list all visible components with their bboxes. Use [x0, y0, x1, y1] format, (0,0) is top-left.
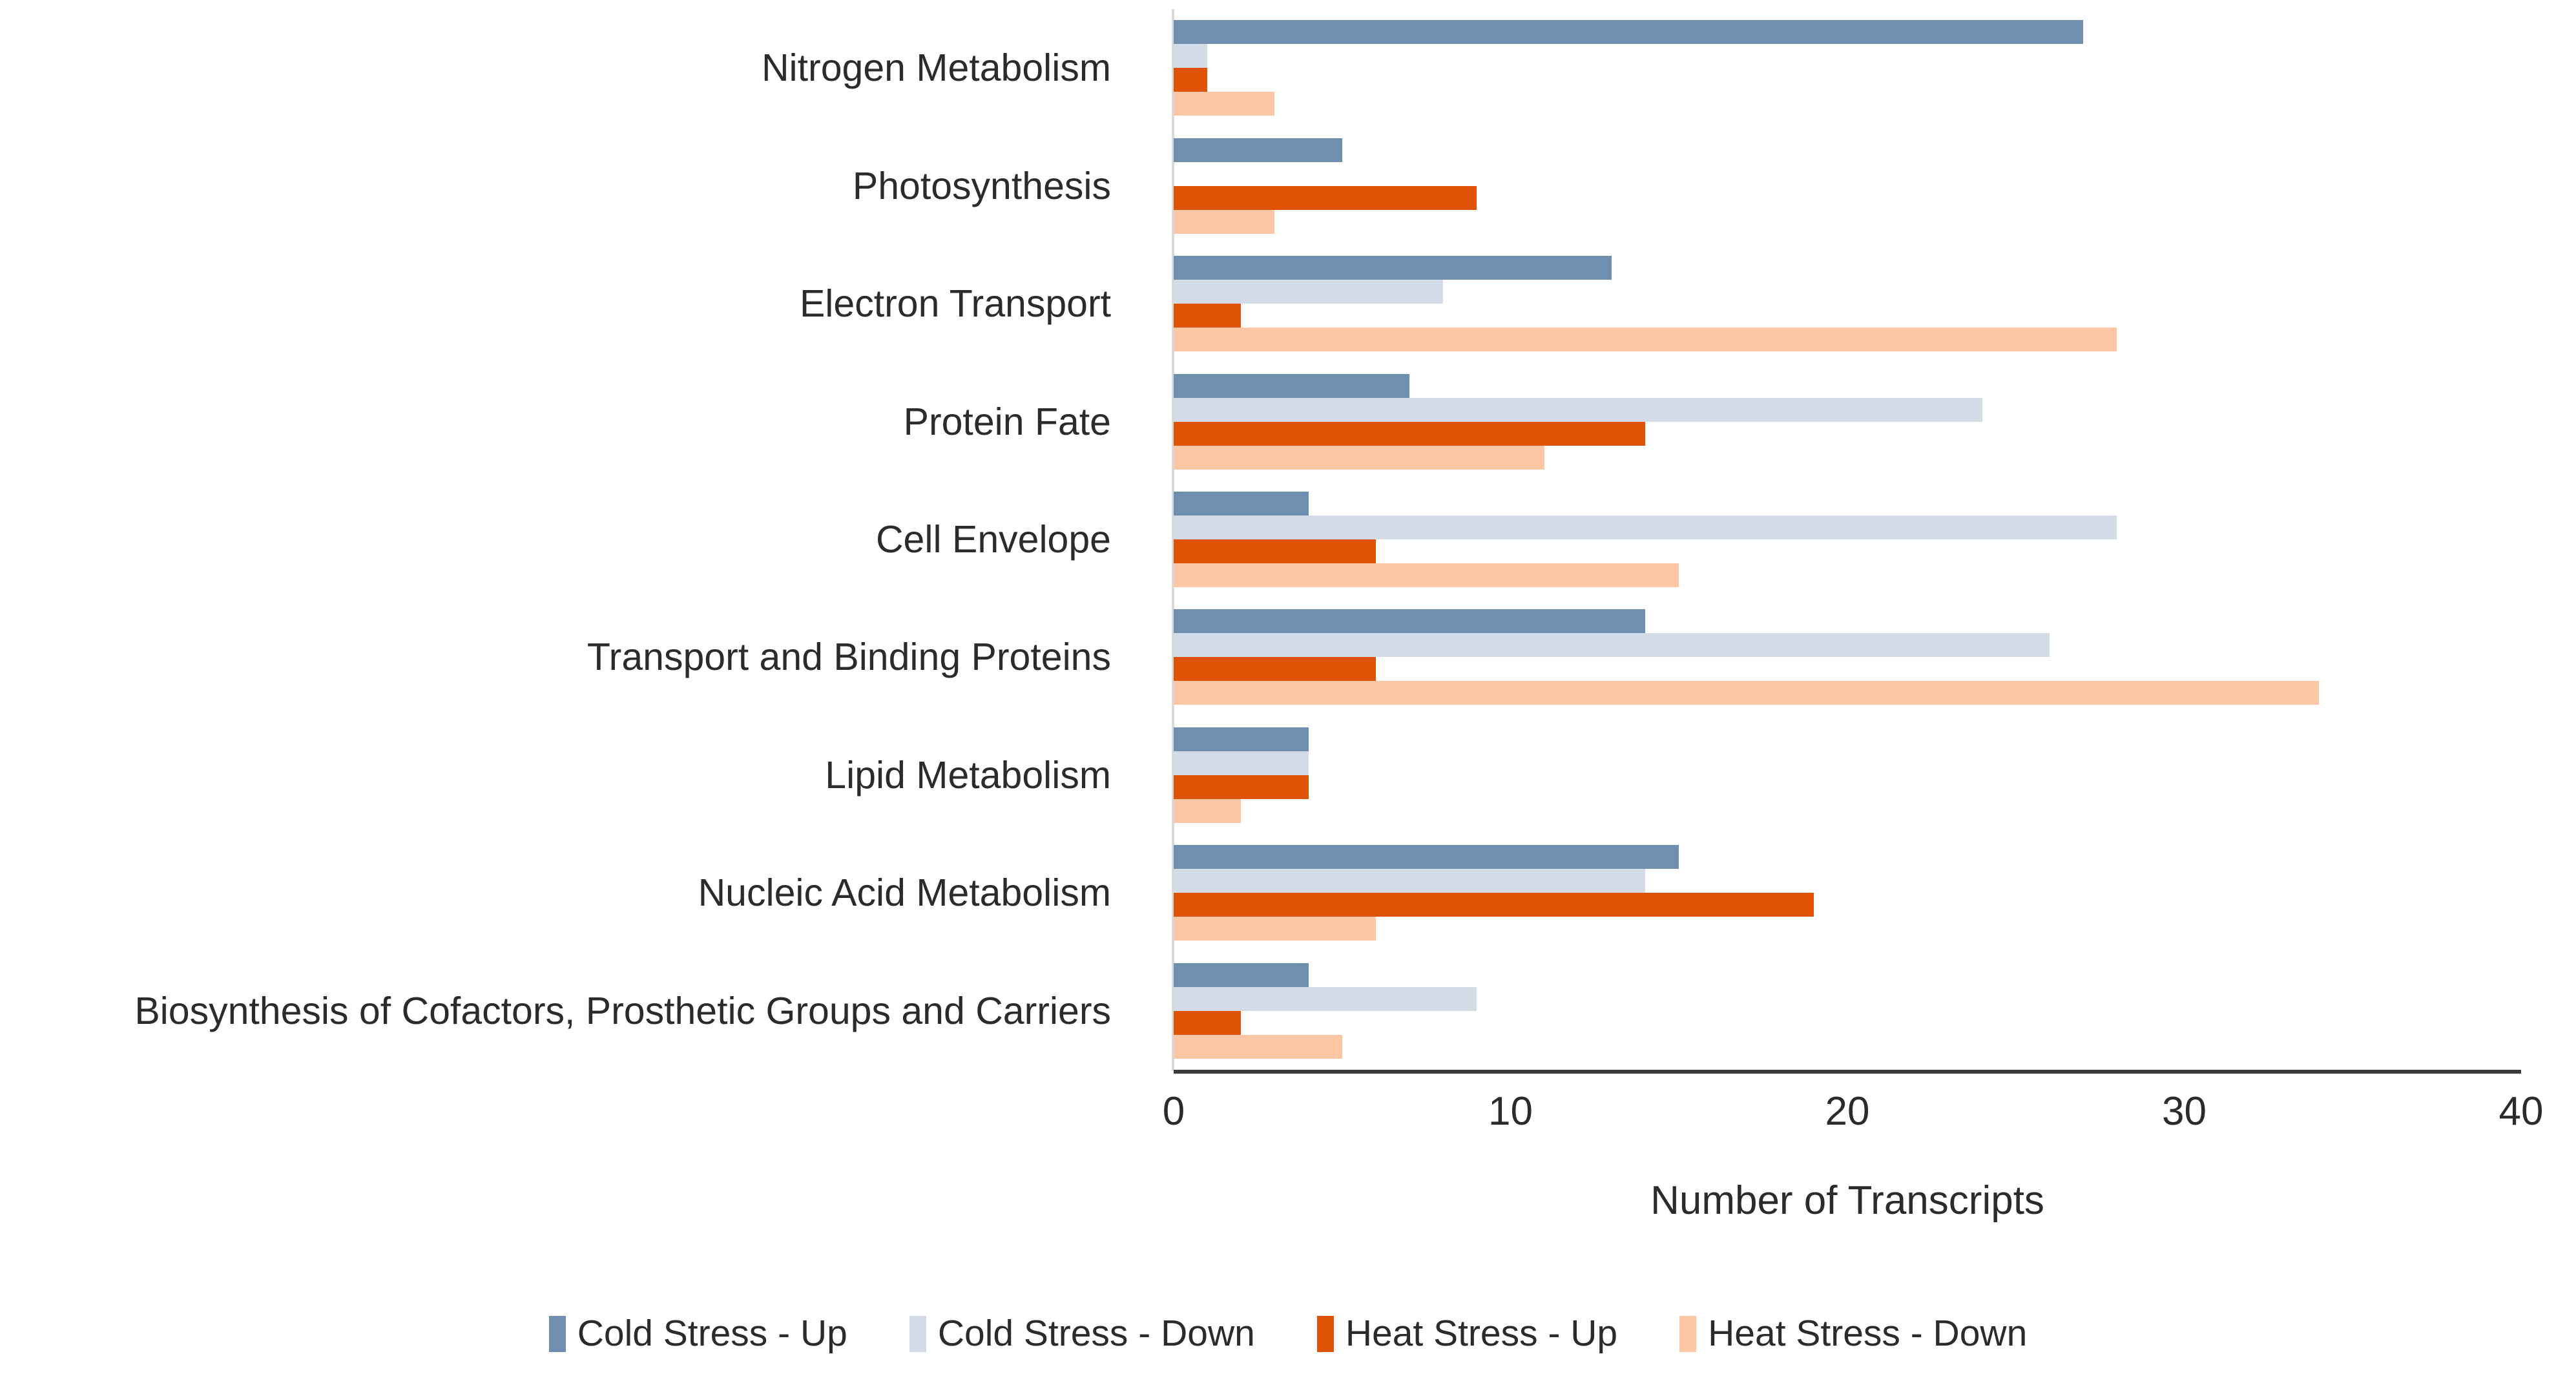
bar [1174, 304, 1241, 328]
bar [1174, 963, 1309, 987]
bar [1174, 917, 1376, 941]
bar [1174, 751, 1309, 775]
bar [1174, 256, 1612, 280]
x-axis-tick-labels: 010203040 [0, 1092, 2576, 1150]
bar [1174, 138, 1342, 162]
bar [1174, 1011, 1241, 1035]
category-label: Lipid Metabolism [825, 756, 1111, 795]
x-axis-line [1174, 1070, 2521, 1074]
bar-chart: Nitrogen MetabolismPhotosynthesisElectro… [0, 0, 2576, 1385]
bar [1174, 92, 1274, 116]
bar [1174, 869, 1645, 893]
legend-label: Cold Stress - Down [938, 1315, 1255, 1352]
bar [1174, 328, 2117, 351]
bar [1174, 374, 1409, 398]
bar [1174, 893, 1814, 917]
bar [1174, 280, 1443, 304]
bar [1174, 515, 2117, 539]
plot-area [1174, 9, 2521, 1070]
bar [1174, 609, 1645, 633]
category-label: Nitrogen Metabolism [762, 48, 1111, 87]
legend-label: Heat Stress - Down [1708, 1315, 2027, 1352]
legend-swatch-icon [549, 1316, 566, 1352]
legend-item[interactable]: Cold Stress - Up [549, 1315, 847, 1352]
bar [1174, 492, 1309, 515]
bar [1174, 563, 1679, 587]
bar [1174, 775, 1309, 799]
category-axis-labels: Nitrogen MetabolismPhotosynthesisElectro… [0, 9, 1150, 1070]
x-tick-label: 0 [1163, 1092, 1185, 1132]
category-label: Photosynthesis [853, 167, 1111, 205]
x-tick-label: 10 [1488, 1092, 1533, 1132]
category-label: Cell Envelope [876, 520, 1111, 559]
legend-item[interactable]: Cold Stress - Down [909, 1315, 1255, 1352]
bar [1174, 681, 2319, 705]
bar [1174, 20, 2083, 44]
legend-item[interactable]: Heat Stress - Down [1679, 1315, 2027, 1352]
category-label: Protein Fate [904, 402, 1111, 441]
category-label: Transport and Binding Proteins [587, 638, 1111, 676]
bar [1174, 633, 2050, 657]
bar [1174, 845, 1679, 869]
category-label: Biosynthesis of Cofactors, Prosthetic Gr… [134, 992, 1111, 1030]
chart-legend: Cold Stress - UpCold Stress - DownHeat S… [0, 1315, 2576, 1352]
bar [1174, 657, 1376, 681]
x-tick-label: 30 [2162, 1092, 2207, 1132]
bar [1174, 422, 1645, 446]
category-label: Nucleic Acid Metabolism [698, 873, 1111, 912]
bar [1174, 68, 1207, 92]
x-tick-label: 40 [2499, 1092, 2544, 1132]
legend-item[interactable]: Heat Stress - Up [1317, 1315, 1617, 1352]
bar [1174, 186, 1477, 210]
legend-swatch-icon [909, 1316, 926, 1352]
bar [1174, 44, 1207, 68]
bar [1174, 727, 1309, 751]
legend-swatch-icon [1679, 1316, 1696, 1352]
legend-label: Heat Stress - Up [1345, 1315, 1617, 1352]
bars-container [1174, 9, 2521, 1070]
legend-swatch-icon [1317, 1316, 1334, 1352]
bar [1174, 799, 1241, 823]
bar [1174, 1035, 1342, 1059]
category-label: Electron Transport [800, 284, 1111, 323]
bar [1174, 987, 1477, 1011]
legend-label: Cold Stress - Up [577, 1315, 847, 1352]
bar [1174, 446, 1544, 470]
bar [1174, 210, 1274, 234]
x-tick-label: 20 [1825, 1092, 1870, 1132]
bar [1174, 539, 1376, 563]
bar [1174, 398, 1982, 422]
x-axis-title: Number of Transcripts [1174, 1181, 2521, 1221]
